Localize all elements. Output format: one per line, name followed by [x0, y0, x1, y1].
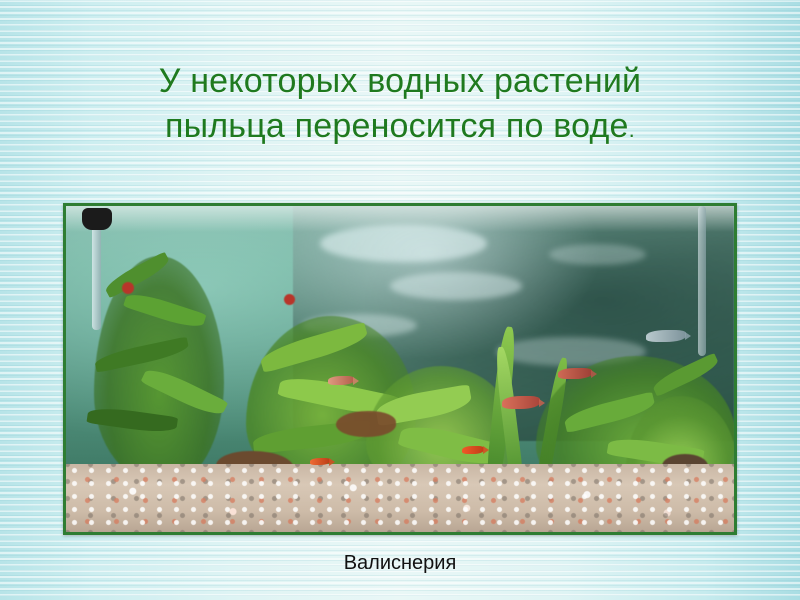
title-trailing-dot: . — [629, 117, 635, 142]
fish — [646, 330, 686, 342]
filter-head — [82, 208, 112, 230]
slide: У некоторых водных растений пыльца перен… — [0, 0, 800, 600]
red-stem-tip — [284, 294, 295, 305]
fish — [462, 446, 484, 454]
fish — [502, 396, 540, 409]
gravel-pebbles — [66, 464, 734, 532]
aquarium-scene — [66, 206, 734, 532]
gravel-bed — [66, 464, 734, 532]
fish — [310, 458, 330, 465]
right-pipe — [698, 206, 706, 356]
driftwood — [336, 411, 396, 437]
title-line-1: У некоторых водных растений — [159, 62, 641, 100]
title-line-2-wrapper: пыльца переносится по воде. — [50, 104, 750, 149]
red-stem-tip — [122, 282, 134, 294]
water-surface — [66, 206, 734, 232]
title-line-2: пыльца переносится по воде — [165, 107, 629, 145]
fish — [328, 376, 354, 385]
page-title: У некоторых водных растений пыльца перен… — [50, 59, 750, 149]
aquarium-photo — [63, 203, 737, 535]
image-caption: Валиснерия — [0, 552, 800, 575]
fish — [558, 368, 592, 379]
